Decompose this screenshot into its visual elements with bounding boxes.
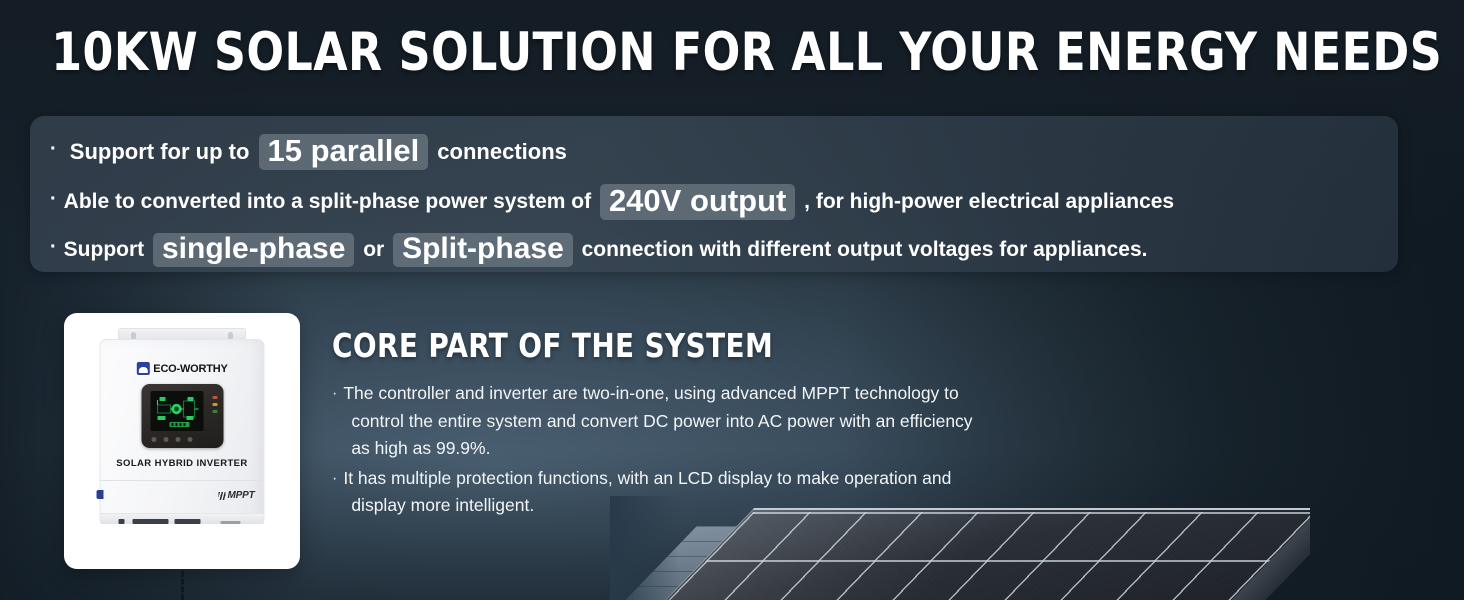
connection-dashed-line — [181, 571, 184, 600]
inverter-port-dc — [133, 519, 169, 524]
core-item-1-line-1: The controller and inverter are two-in-o… — [343, 383, 958, 403]
brand-logo: ECO-WORTHY — [136, 362, 227, 375]
core-section-list: · The controller and inverter are two-in… — [332, 380, 1052, 522]
led-warning-icon — [212, 403, 217, 406]
feature-row-2-pre: Able to converted into a split-phase pow… — [64, 190, 597, 214]
bullet-icon: · — [332, 380, 337, 463]
feature-row-3-post: connection with different output voltage… — [576, 238, 1148, 262]
core-item-2-line-1: It has multiple protection functions, wi… — [343, 468, 951, 488]
core-item-1-line-2: control the entire system and convert DC… — [343, 408, 1052, 436]
product-image-card: ECO-WORTHY — [64, 313, 300, 569]
core-item-2-line-2: display more intelligent. — [343, 492, 1052, 520]
keypad-button-esc[interactable] — [151, 437, 156, 442]
feature-row-1-pre: Support for up to — [64, 139, 256, 165]
feature-row-2: · Able to converted into a split-phase p… — [50, 178, 1382, 226]
inverter-port-ground — [119, 519, 125, 524]
list-item: · The controller and inverter are two-in… — [332, 380, 1052, 463]
keypad-button-down[interactable] — [175, 437, 180, 442]
lcd-screen — [150, 391, 203, 431]
mppt-badge: MPPT — [219, 490, 255, 501]
bullet-icon: · — [50, 237, 57, 257]
lcd-bezel — [141, 384, 223, 448]
feature-row-2-highlight: 240V output — [600, 184, 795, 220]
core-item-2-text: It has multiple protection functions, wi… — [343, 465, 1052, 520]
feature-row-3-pre: Support — [64, 238, 150, 262]
led-power-icon — [212, 410, 217, 413]
mppt-badge-label: MPPT — [228, 490, 255, 501]
inverter-vent — [221, 521, 241, 524]
feature-row-2-post: , for high-power electrical appliances — [798, 190, 1174, 214]
lcd-graphic-icon — [150, 391, 203, 431]
solar-panel-arch-icon — [136, 362, 149, 375]
list-item: · It has multiple protection functions, … — [332, 465, 1052, 520]
bullet-icon: · — [332, 465, 337, 520]
keypad-button-enter[interactable] — [187, 437, 192, 442]
page-title: 10KW SOLAR SOLUTION FOR ALL YOUR ENERGY … — [51, 26, 1413, 79]
solar-panel-array — [646, 508, 1310, 600]
inverter-body: ECO-WORTHY — [100, 339, 265, 524]
led-fault-icon — [212, 396, 217, 399]
promo-banner: 10KW SOLAR SOLUTION FOR ALL YOUR ENERGY … — [0, 0, 1464, 600]
core-item-1-text: The controller and inverter are two-in-o… — [343, 380, 1052, 463]
feature-row-1-highlight: 15 parallel — [259, 134, 429, 170]
inverter-base-plate — [101, 513, 264, 524]
feature-row-3-mid: or — [357, 238, 390, 262]
feature-row-1-post: connections — [431, 139, 567, 165]
feature-row-3-highlight-1: single-phase — [153, 233, 354, 268]
status-leds — [212, 396, 217, 413]
inverter-panel-seam — [101, 480, 264, 481]
inverter-port-ac — [175, 519, 201, 524]
solar-panel-glare — [647, 510, 1310, 600]
keypad-buttons[interactable] — [151, 437, 192, 442]
mppt-bars-icon — [219, 492, 226, 500]
bullet-icon: · — [50, 139, 57, 159]
brand-name: ECO-WORTHY — [153, 363, 227, 375]
product-model-label: SOLAR HYBRID INVERTER — [101, 458, 264, 469]
bullet-icon: · — [50, 189, 57, 209]
feature-row-3-highlight-2: Split-phase — [393, 233, 573, 268]
feature-row-3: · Support single-phase or Split-phase co… — [50, 226, 1382, 274]
feature-panel: · Support for up to 15 parallel connecti… — [30, 116, 1398, 272]
inverter-side-connector — [97, 490, 104, 499]
keypad-button-up[interactable] — [163, 437, 168, 442]
core-section-heading: CORE PART OF THE SYSTEM — [332, 326, 773, 365]
core-item-1-line-3: as high as 99.9%. — [343, 435, 1052, 463]
feature-row-1: · Support for up to 15 parallel connecti… — [50, 128, 1382, 176]
